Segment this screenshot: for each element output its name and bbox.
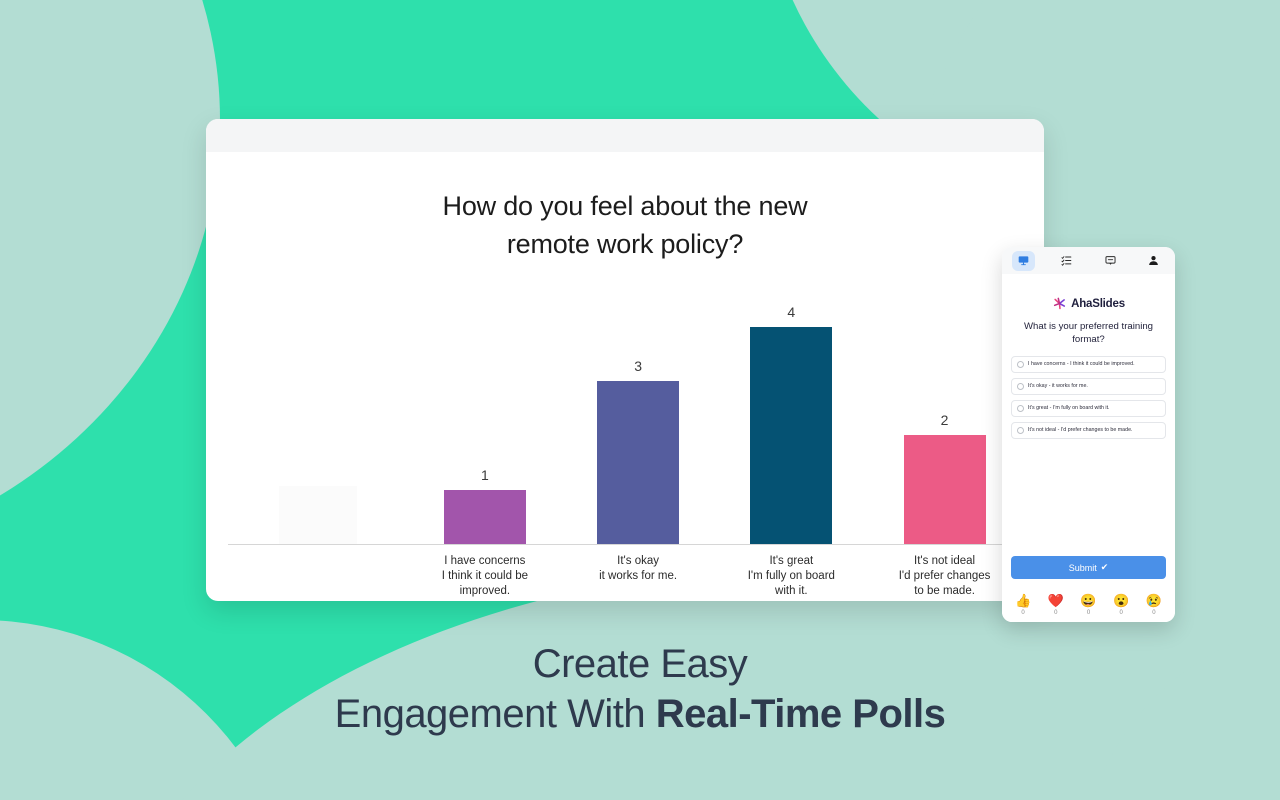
phone-screen: AhaSlides What is your preferred trainin… [1002, 296, 1175, 622]
headline-line-2-bold: Real-Time Polls [656, 692, 946, 736]
reaction-sad[interactable]: 😢 0 [1146, 594, 1162, 616]
poll-option-4-label: It's not ideal - I'd prefer changes to b… [1028, 427, 1133, 433]
presentation-icon [1018, 255, 1029, 266]
bar-label-3: It's great I'm fully on board with it. [715, 554, 868, 600]
reaction-laughing[interactable]: 😀 0 [1080, 594, 1096, 616]
check-icon: ✔ [1101, 562, 1109, 573]
bar-value-3: 4 [787, 304, 795, 320]
slide-title-line-1: How do you feel about the new [296, 187, 954, 225]
chart-category-labels: I have concerns I think it could be impr… [228, 554, 1022, 600]
ghost-bar [279, 486, 357, 544]
bar-label-3-line-3: with it. [719, 584, 864, 599]
thumbs-up-icon: 👍 [1015, 594, 1031, 607]
bar-chart: 1 3 4 2 I [228, 302, 1022, 587]
slide-body: How do you feel about the new remote wor… [206, 152, 1044, 601]
sad-icon: 😢 [1146, 594, 1162, 607]
poll-option-1-label: I have concerns - I think it could be im… [1028, 361, 1135, 367]
headline-line-1: Create Easy [0, 640, 1280, 689]
bar-label-3-line-1: It's great [719, 554, 864, 569]
bar-label-1-line-1: I have concerns [412, 554, 557, 569]
tab-poll-list[interactable] [1045, 247, 1088, 274]
bar-value-4: 2 [941, 412, 949, 428]
chat-icon [1105, 255, 1116, 266]
submit-button[interactable]: Submit ✔ [1011, 556, 1166, 579]
chart-plot-area: 1 3 4 2 [228, 302, 1022, 544]
reaction-thumbs-up[interactable]: 👍 0 [1015, 594, 1031, 616]
radio-icon [1017, 361, 1024, 368]
bar-label-4-line-3: to be made. [872, 584, 1017, 599]
bar-3 [750, 327, 832, 544]
brand-logo: AhaSlides [1011, 296, 1166, 311]
chart-axis-line [228, 544, 1022, 545]
background-blob-top-left [0, 0, 220, 570]
bar-column-2: 3 [561, 302, 714, 544]
bar-label-4: It's not ideal I'd prefer changes to be … [868, 554, 1021, 600]
bar-1 [444, 490, 526, 544]
poll-options-list: I have concerns - I think it could be im… [1011, 356, 1166, 439]
reaction-surprised[interactable]: 😮 0 [1113, 594, 1129, 616]
bar-label-4-line-2: I'd prefer changes [872, 569, 1017, 584]
bar-label-1-line-3: improved. [412, 584, 557, 599]
headline: Create Easy Engagement With Real-Time Po… [0, 640, 1280, 740]
reaction-heart[interactable]: ❤️ 0 [1048, 594, 1064, 616]
bar-label-1-line-2: I think it could be [412, 569, 557, 584]
person-icon [1148, 255, 1159, 266]
poll-option-3[interactable]: It's great - I'm fully on board with it. [1011, 400, 1166, 417]
bar-value-1: 1 [481, 467, 489, 483]
slide-card: How do you feel about the new remote wor… [206, 119, 1044, 601]
reaction-count-thumbs-up: 0 [1021, 610, 1024, 616]
bar-label-2-line-1: It's okay [565, 554, 710, 569]
brand-name: AhaSlides [1071, 298, 1125, 310]
bar-4 [904, 435, 986, 544]
poll-list-icon [1061, 255, 1072, 266]
phone-mockup: AhaSlides What is your preferred trainin… [1002, 247, 1175, 622]
radio-icon [1017, 405, 1024, 412]
page-title: How do you feel about the new remote wor… [206, 152, 1044, 264]
headline-line-2-light: Engagement With [335, 692, 656, 736]
chart-ghost-column [228, 302, 408, 544]
reaction-count-laughing: 0 [1087, 610, 1090, 616]
bar-label-3-line-2: I'm fully on board [719, 569, 864, 584]
tab-presentation[interactable] [1002, 247, 1045, 274]
slide-card-topbar [206, 119, 1044, 152]
bar-label-1: I have concerns I think it could be impr… [408, 554, 561, 600]
ahaslides-starburst-icon [1052, 296, 1067, 311]
surprised-icon: 😮 [1113, 594, 1129, 607]
radio-icon [1017, 427, 1024, 434]
reaction-count-sad: 0 [1152, 610, 1155, 616]
bar-column-3: 4 [715, 302, 868, 544]
bar-label-4-line-1: It's not ideal [872, 554, 1017, 569]
bar-column-1: 1 [408, 302, 561, 544]
tab-person[interactable] [1132, 247, 1175, 274]
poll-question: What is your preferred training format? [1011, 321, 1166, 347]
bar-label-2: It's okay it works for me. [561, 554, 714, 600]
slide-title-line-2: remote work policy? [296, 225, 954, 263]
poll-option-2[interactable]: It's okay - it works for me. [1011, 378, 1166, 395]
reactions-bar: 👍 0 ❤️ 0 😀 0 😮 0 😢 0 [1011, 594, 1166, 616]
bar-label-2-line-2: it works for me. [565, 569, 710, 584]
poll-option-3-label: It's great - I'm fully on board with it. [1028, 405, 1110, 411]
reaction-count-heart: 0 [1054, 610, 1057, 616]
tab-chat[interactable] [1089, 247, 1132, 274]
bar-2 [597, 381, 679, 544]
poll-option-2-label: It's okay - it works for me. [1028, 383, 1088, 389]
poll-option-4[interactable]: It's not ideal - I'd prefer changes to b… [1011, 422, 1166, 439]
submit-button-label: Submit [1069, 563, 1097, 573]
bar-value-2: 3 [634, 358, 642, 374]
laughing-icon: 😀 [1080, 594, 1096, 607]
poll-option-1[interactable]: I have concerns - I think it could be im… [1011, 356, 1166, 373]
phone-tab-bar [1002, 247, 1175, 274]
headline-line-2: Engagement With Real-Time Polls [0, 689, 1280, 740]
heart-icon: ❤️ [1048, 594, 1064, 607]
radio-icon [1017, 383, 1024, 390]
bar-column-4: 2 [868, 302, 1021, 544]
tab-active-indicator [1012, 251, 1035, 271]
reaction-count-surprised: 0 [1120, 610, 1123, 616]
